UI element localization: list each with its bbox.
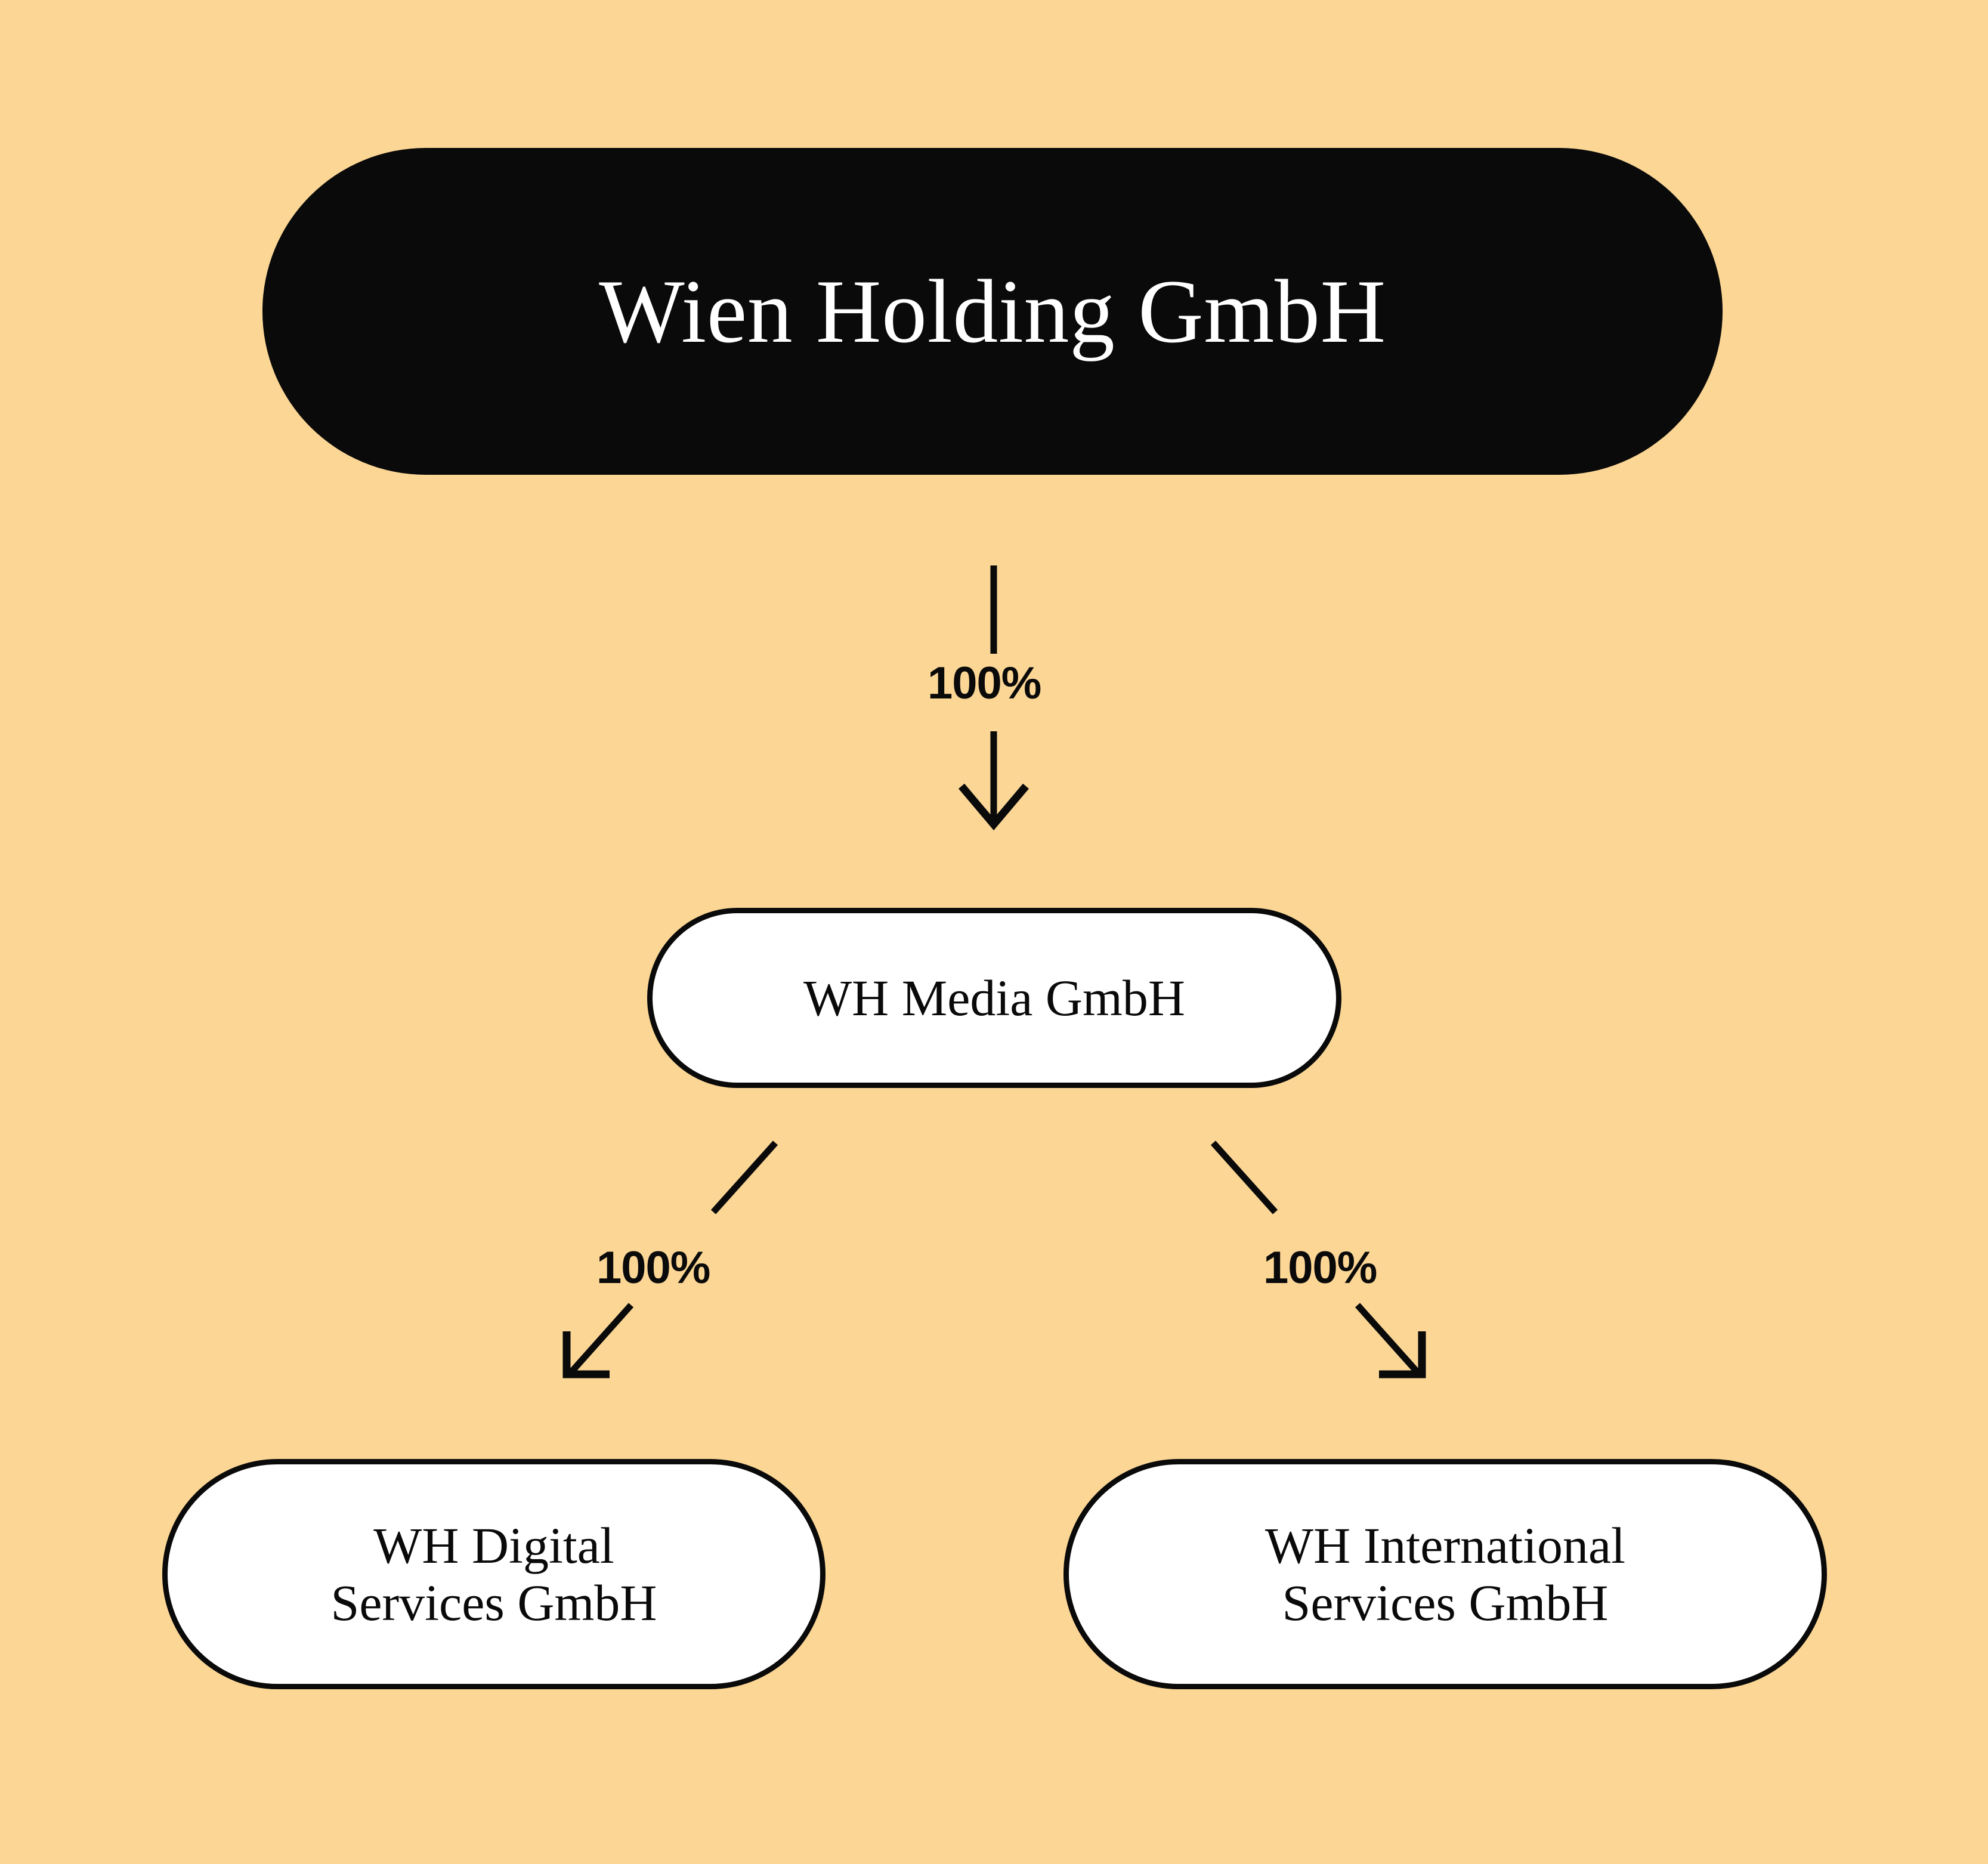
node-label-wh-international-services-gmbh: WH International Services GmbH xyxy=(1245,1517,1646,1632)
node-label-wien-holding-gmbh: Wien Holding GmbH xyxy=(579,261,1406,362)
node-wh-digital-services-gmbh[interactable]: WH Digital Services GmbH xyxy=(162,1459,826,1689)
edge-label-media-to-international: 100% xyxy=(1263,1245,1377,1291)
node-label-wh-digital-services-gmbh: WH Digital Services GmbH xyxy=(311,1517,678,1632)
node-label-wh-media-gmbh: WH Media GmbH xyxy=(783,969,1205,1027)
edge-label-root-to-media: 100% xyxy=(927,661,1041,706)
node-wh-international-services-gmbh[interactable]: WH International Services GmbH xyxy=(1063,1459,1827,1689)
org-chart: 100% 100% 100% Wien Holding GmbH WH Medi… xyxy=(0,0,1988,1864)
node-wh-media-gmbh[interactable]: WH Media GmbH xyxy=(647,908,1341,1088)
node-wien-holding-gmbh[interactable]: Wien Holding GmbH xyxy=(262,148,1723,475)
edge-label-media-to-digital: 100% xyxy=(596,1245,710,1291)
